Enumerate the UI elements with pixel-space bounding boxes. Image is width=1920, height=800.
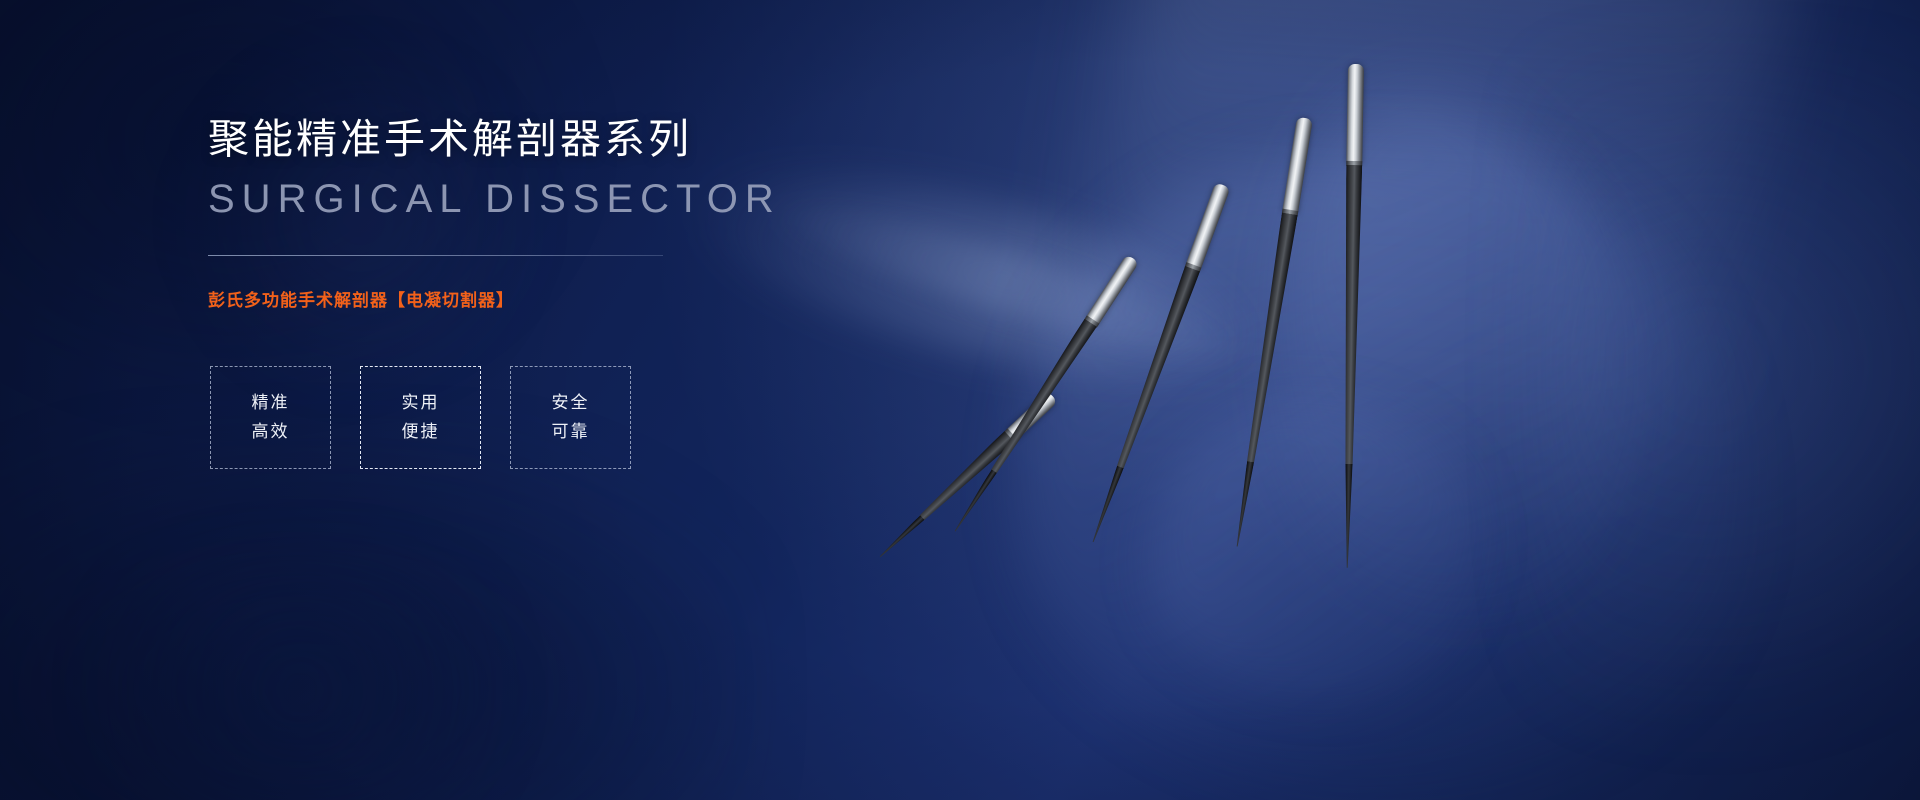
hero-text-block: 聚能精准手术解剖器系列 SURGICAL DISSECTOR 彭氏多功能手术解剖… — [208, 112, 848, 313]
page-title: 聚能精准手术解剖器系列 — [208, 112, 848, 167]
instrument-black-shaft — [987, 318, 1097, 475]
product-subtitle: 彭氏多功能手术解剖器【电凝切割器】 — [208, 289, 848, 313]
dissector-probe-5 — [1339, 64, 1364, 568]
instrument-tip — [1090, 466, 1124, 544]
page-title-english: SURGICAL DISSECTOR — [208, 171, 848, 227]
feature-box-2[interactable]: 实用便捷 — [360, 366, 481, 469]
instrument-tip — [878, 515, 925, 559]
instrument-tip — [1234, 461, 1254, 547]
instrument-black-shaft — [1113, 266, 1201, 471]
dissector-probe-4 — [1229, 117, 1313, 548]
feature-box-group: 精准高效实用便捷安全可靠 — [210, 366, 631, 469]
instrument-metal-handle — [1282, 117, 1313, 214]
dissector-probe-3 — [1086, 182, 1231, 545]
feature-line-secondary: 高效 — [252, 421, 290, 444]
feature-line-primary: 精准 — [252, 392, 290, 415]
feature-line-primary: 实用 — [402, 392, 440, 415]
instrument-metal-handle — [1185, 182, 1230, 270]
instrument-black-shaft — [1243, 213, 1298, 464]
instrument-metal-handle — [1085, 254, 1139, 326]
instrument-black-shaft — [1341, 165, 1362, 465]
feature-box-1[interactable]: 精准高效 — [210, 366, 331, 469]
feature-line-primary: 安全 — [552, 392, 590, 415]
feature-line-secondary: 可靠 — [552, 421, 590, 444]
instrument-tip — [1344, 464, 1353, 568]
instrument-metal-handle — [1346, 64, 1364, 164]
feature-box-3[interactable]: 安全可靠 — [510, 366, 631, 469]
title-divider — [208, 255, 663, 256]
feature-line-secondary: 便捷 — [402, 421, 440, 444]
product-hero-banner: 聚能精准手术解剖器系列 SURGICAL DISSECTOR 彭氏多功能手术解剖… — [0, 0, 1920, 800]
